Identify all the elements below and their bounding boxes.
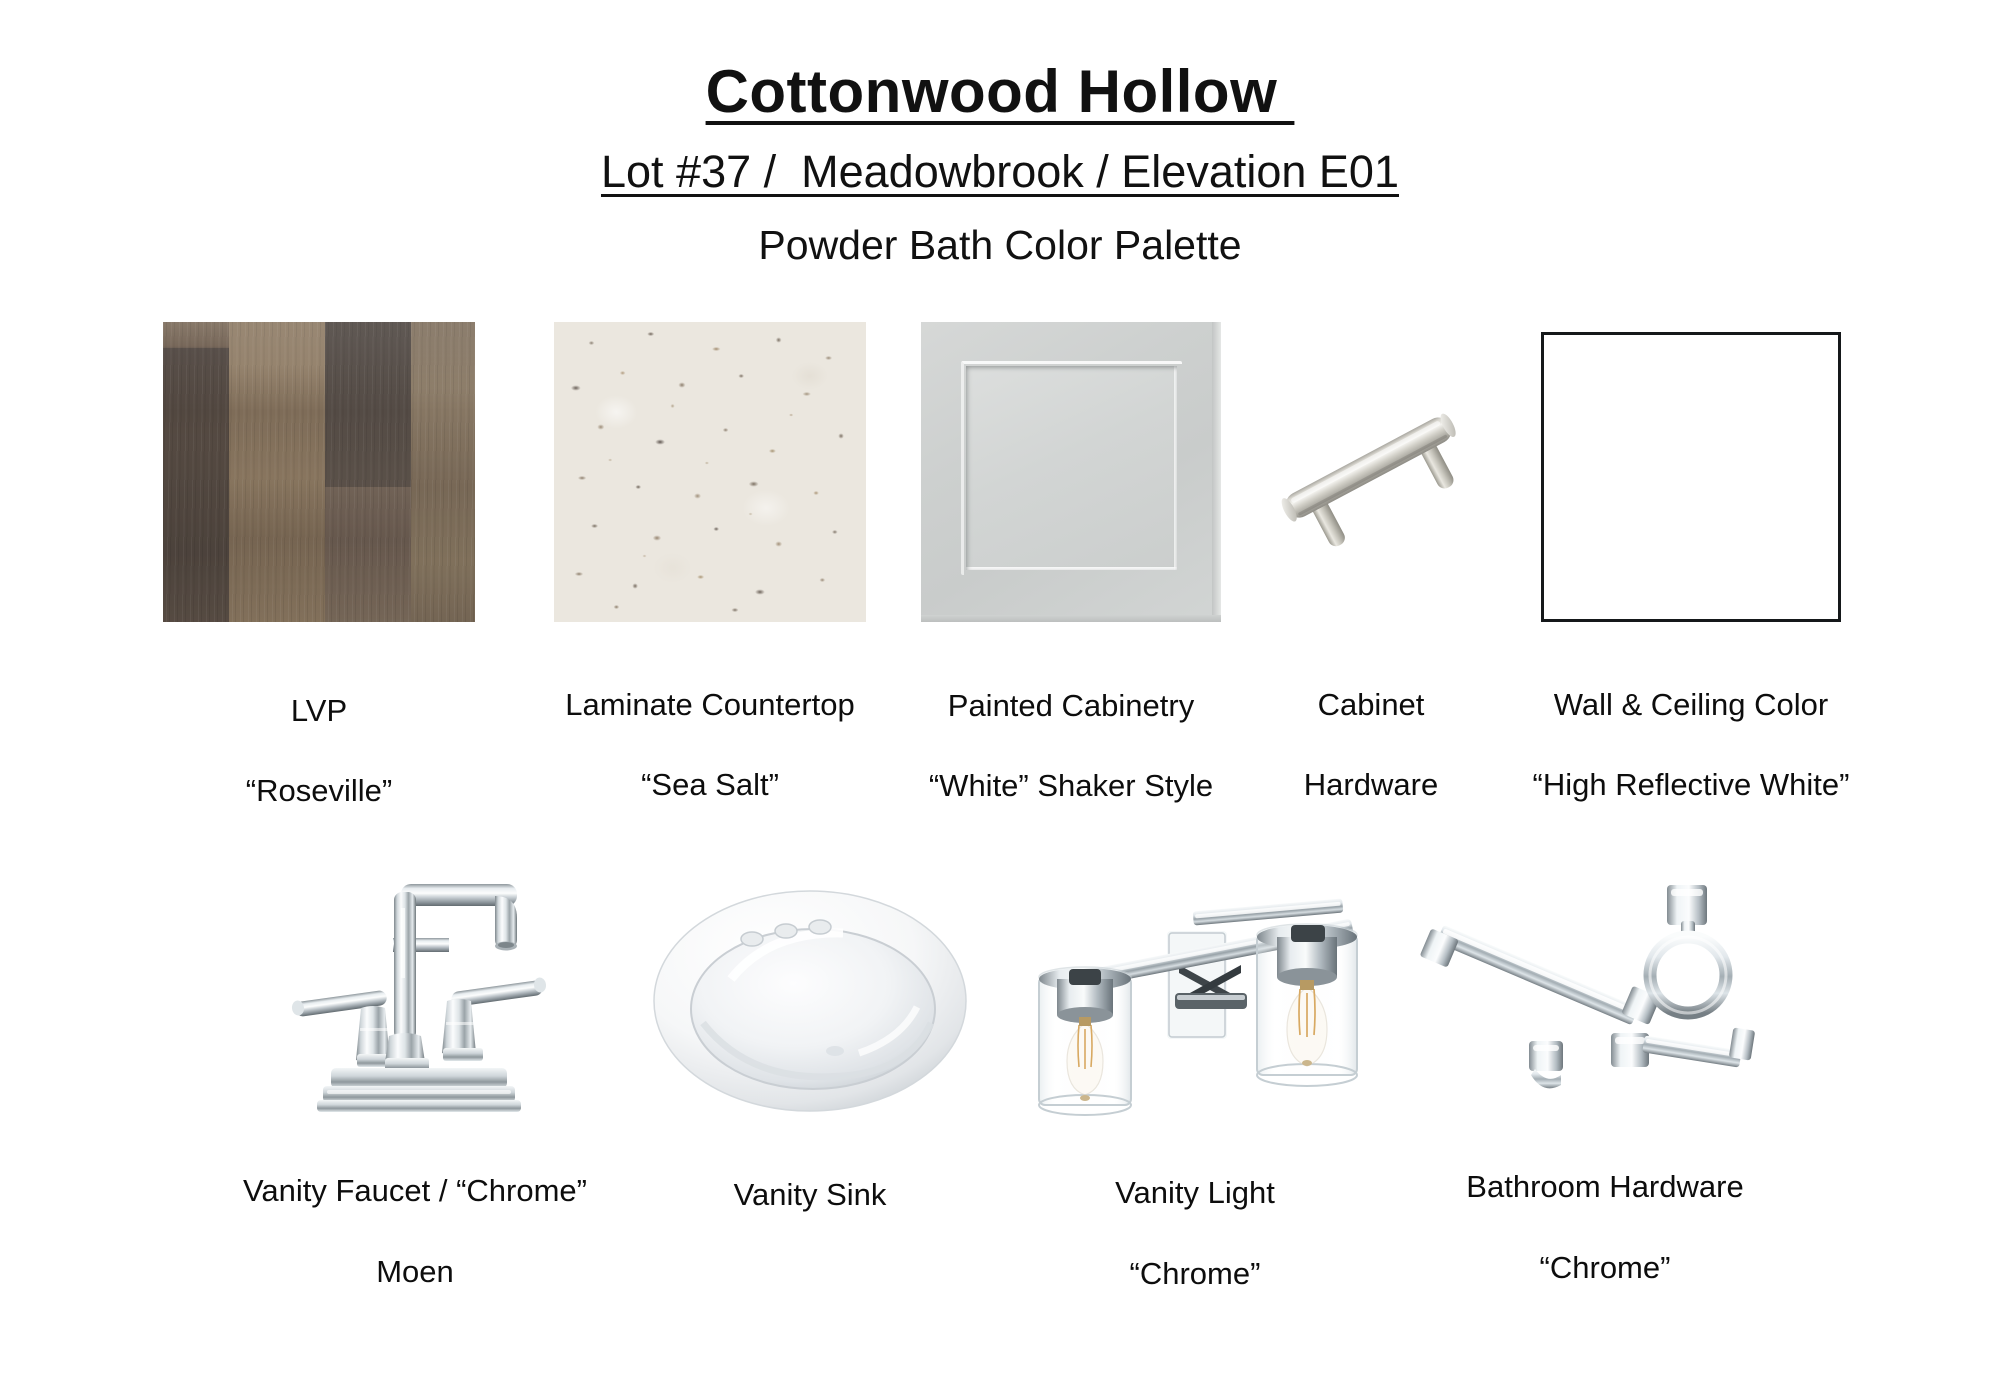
wall-color-caption: Wall & Ceiling Color “High Reflective Wh… <box>1533 644 1850 845</box>
cabinetry-caption-line1: Painted Cabinetry <box>929 686 1213 726</box>
cabinet-hardware-caption: Cabinet Hardware <box>1304 644 1438 845</box>
cabinet-door-recessed-panel <box>966 366 1177 570</box>
palette-item-vanity-faucet: Vanity Faucet / “Chrome” Moen <box>195 868 635 1332</box>
lvp-caption-line2: “Roseville” <box>246 771 392 811</box>
light-caption-line2: “Chrome” <box>1115 1254 1275 1294</box>
lot-subtitle: Lot #37 / Meadowbrook / Elevation E01 <box>0 145 2000 199</box>
laminate-caption: Laminate Countertop “Sea Salt” <box>565 644 855 845</box>
lvp-floor-swatch <box>163 322 475 622</box>
wall-swatch-box <box>1541 322 1841 622</box>
palette-item-vanity-light: Vanity Light “Chrome” <box>985 868 1405 1334</box>
bathroom-hardware-caption-line2: “Chrome” <box>1466 1248 1743 1288</box>
cabinet-hardware-swatch-box <box>1251 322 1491 622</box>
wall-color-caption-line2: “High Reflective White” <box>1533 765 1850 805</box>
faucet-swatch-box <box>265 868 565 1123</box>
laminate-swatch-box <box>554 322 866 622</box>
light-caption: Vanity Light “Chrome” <box>1115 1133 1275 1334</box>
vanity-faucet <box>265 868 565 1123</box>
light-swatch-box <box>995 868 1395 1123</box>
cabinet-swatch-box <box>921 322 1221 622</box>
cabinet-hardware-caption-line1: Cabinet <box>1304 685 1438 725</box>
lvp-caption: LVP “Roseville” <box>246 650 392 851</box>
palette-item-painted-cabinetry: Painted Cabinetry “White” Shaker Style <box>906 322 1236 846</box>
sink-caption-line1: Vanity Sink <box>734 1175 887 1215</box>
cabinet-bar-pull <box>1251 322 1491 622</box>
palette-row-2: Vanity Faucet / “Chrome” Moen <box>0 868 2000 1334</box>
sink-swatch-box <box>645 868 975 1123</box>
cabinet-hardware-caption-line2: Hardware <box>1304 765 1438 805</box>
faucet-caption-line1: Vanity Faucet / “Chrome” <box>243 1171 587 1211</box>
page-title: Cottonwood Hollow <box>0 58 2000 125</box>
lvp-caption-line1: LVP <box>246 691 392 731</box>
lvp-swatch-box <box>163 322 475 622</box>
wall-color-caption-line1: Wall & Ceiling Color <box>1533 685 1850 725</box>
palette-item-vanity-sink: Vanity Sink <box>635 868 985 1256</box>
laminate-caption-line2: “Sea Salt” <box>565 765 855 805</box>
bathroom-hardware-caption-line1: Bathroom Hardware <box>1466 1167 1743 1207</box>
palette-item-wall-ceiling-color: Wall & Ceiling Color “High Reflective Wh… <box>1506 322 1876 845</box>
page-header: Cottonwood Hollow Lot #37 / Meadowbrook … <box>0 0 2000 270</box>
bathroom-hardware-caption: Bathroom Hardware “Chrome” <box>1466 1127 1743 1328</box>
cabinetry-caption-line2: “White” Shaker Style <box>929 766 1213 806</box>
wall-color-swatch <box>1541 332 1841 622</box>
vanity-light-2-bulb <box>995 873 1395 1123</box>
laminate-caption-line1: Laminate Countertop <box>565 685 855 725</box>
bathroom-hardware-swatch-box <box>1415 868 1795 1123</box>
palette-item-cabinet-hardware: Cabinet Hardware <box>1236 322 1506 845</box>
cabinetry-caption: Painted Cabinetry “White” Shaker Style <box>929 645 1213 846</box>
palette-item-lvp: LVP “Roseville” <box>124 322 514 851</box>
vanity-sink <box>645 873 975 1123</box>
room-subtitle: Powder Bath Color Palette <box>0 221 2000 270</box>
light-caption-line1: Vanity Light <box>1115 1173 1275 1213</box>
cabinet-door-swatch <box>921 322 1221 622</box>
palette-item-laminate-countertop: Laminate Countertop “Sea Salt” <box>514 322 906 845</box>
faucet-caption-line2: Moen <box>243 1252 587 1292</box>
palette-item-bathroom-hardware: Bathroom Hardware “Chrome” <box>1405 868 1805 1328</box>
palette-row-1: LVP “Roseville” Laminate Countertop “Sea… <box>0 322 2000 851</box>
laminate-countertop-swatch <box>554 322 866 622</box>
bathroom-hardware-set <box>1415 873 1795 1123</box>
sink-caption: Vanity Sink <box>734 1135 887 1256</box>
palette-grid: LVP “Roseville” Laminate Countertop “Sea… <box>0 322 2000 1334</box>
faucet-caption: Vanity Faucet / “Chrome” Moen <box>243 1131 587 1332</box>
